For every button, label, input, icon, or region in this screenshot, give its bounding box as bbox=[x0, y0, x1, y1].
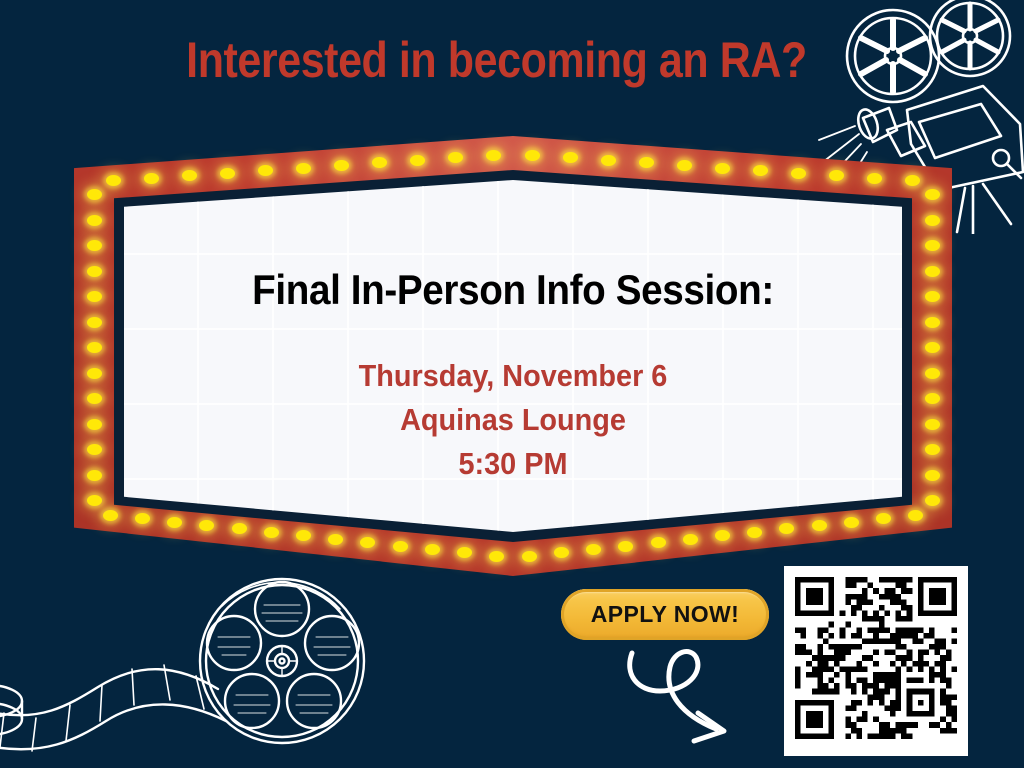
marquee-bulb bbox=[618, 541, 633, 552]
marquee-bulb bbox=[925, 215, 940, 226]
marquee-bulb bbox=[791, 168, 806, 179]
marquee-bulb bbox=[925, 189, 940, 200]
film-reel-icon bbox=[0, 561, 412, 768]
marquee-screen: Final In-Person Info Session: Thursday, … bbox=[124, 180, 902, 532]
marquee-bulb bbox=[925, 368, 940, 379]
marquee-bulb bbox=[925, 419, 940, 430]
marquee-bulb bbox=[264, 527, 279, 538]
marquee-bulb bbox=[87, 266, 102, 277]
session-headline: Final In-Person Info Session: bbox=[155, 266, 871, 314]
marquee-bulb bbox=[525, 150, 540, 161]
marquee-bulb bbox=[925, 470, 940, 481]
marquee-bulb bbox=[867, 173, 882, 184]
marquee-bulb bbox=[925, 240, 940, 251]
apply-now-button[interactable]: APPLY NOW! bbox=[561, 589, 769, 640]
marquee-bulb bbox=[601, 155, 616, 166]
marquee-bulb bbox=[925, 291, 940, 302]
poster-canvas: Interested in becoming an RA? Final In-P… bbox=[0, 0, 1024, 768]
curly-arrow-icon bbox=[620, 645, 780, 755]
marquee-sign: Final In-Person Info Session: Thursday, … bbox=[74, 136, 952, 576]
marquee-bulb bbox=[103, 510, 118, 521]
session-location: Aquinas Lounge bbox=[151, 398, 875, 442]
marquee-bulb bbox=[925, 393, 940, 404]
marquee-bulb bbox=[925, 317, 940, 328]
session-date: Thursday, November 6 bbox=[151, 354, 875, 398]
marquee-bulb bbox=[144, 173, 159, 184]
marquee-bulb bbox=[925, 266, 940, 277]
marquee-bulb bbox=[87, 240, 102, 251]
session-details: Thursday, November 6 Aquinas Lounge 5:30… bbox=[151, 354, 875, 486]
marquee-bulb bbox=[182, 170, 197, 181]
marquee-bulb bbox=[87, 444, 102, 455]
marquee-bulb bbox=[651, 537, 666, 548]
marquee-bulb bbox=[393, 541, 408, 552]
marquee-bulb bbox=[925, 444, 940, 455]
marquee-bulb bbox=[87, 342, 102, 353]
marquee-bulb bbox=[87, 393, 102, 404]
marquee-bulb bbox=[87, 317, 102, 328]
qr-code-panel[interactable] bbox=[784, 566, 968, 756]
marquee-bulb bbox=[220, 168, 235, 179]
marquee-bulb bbox=[747, 527, 762, 538]
marquee-bulb bbox=[489, 551, 504, 562]
marquee-bulb bbox=[87, 215, 102, 226]
marquee-bulb bbox=[425, 544, 440, 555]
marquee-bulb bbox=[812, 520, 827, 531]
marquee-bulb bbox=[87, 495, 102, 506]
marquee-bulb bbox=[563, 152, 578, 163]
marquee-bulb bbox=[258, 165, 273, 176]
marquee-bulb bbox=[87, 291, 102, 302]
marquee-bulb bbox=[87, 368, 102, 379]
marquee-bulb bbox=[683, 534, 698, 545]
marquee-bulb bbox=[844, 517, 859, 528]
marquee-bulb bbox=[106, 175, 121, 186]
marquee-text-block: Final In-Person Info Session: Thursday, … bbox=[124, 266, 902, 486]
marquee-bulb bbox=[328, 534, 343, 545]
session-time: 5:30 PM bbox=[151, 442, 875, 486]
marquee-bulb bbox=[87, 470, 102, 481]
marquee-bulb bbox=[925, 495, 940, 506]
marquee-bulb bbox=[167, 517, 182, 528]
marquee-bulb bbox=[87, 419, 102, 430]
marquee-bulb bbox=[677, 160, 692, 171]
marquee-bulb bbox=[522, 551, 537, 562]
marquee-bulb bbox=[87, 189, 102, 200]
marquee-bulb bbox=[296, 163, 311, 174]
marquee-bulb bbox=[334, 160, 349, 171]
marquee-bulb bbox=[925, 342, 940, 353]
page-title: Interested in becoming an RA? bbox=[56, 34, 937, 87]
qr-code-image[interactable] bbox=[795, 577, 957, 739]
marquee-bulb bbox=[715, 163, 730, 174]
marquee-bulb bbox=[586, 544, 601, 555]
